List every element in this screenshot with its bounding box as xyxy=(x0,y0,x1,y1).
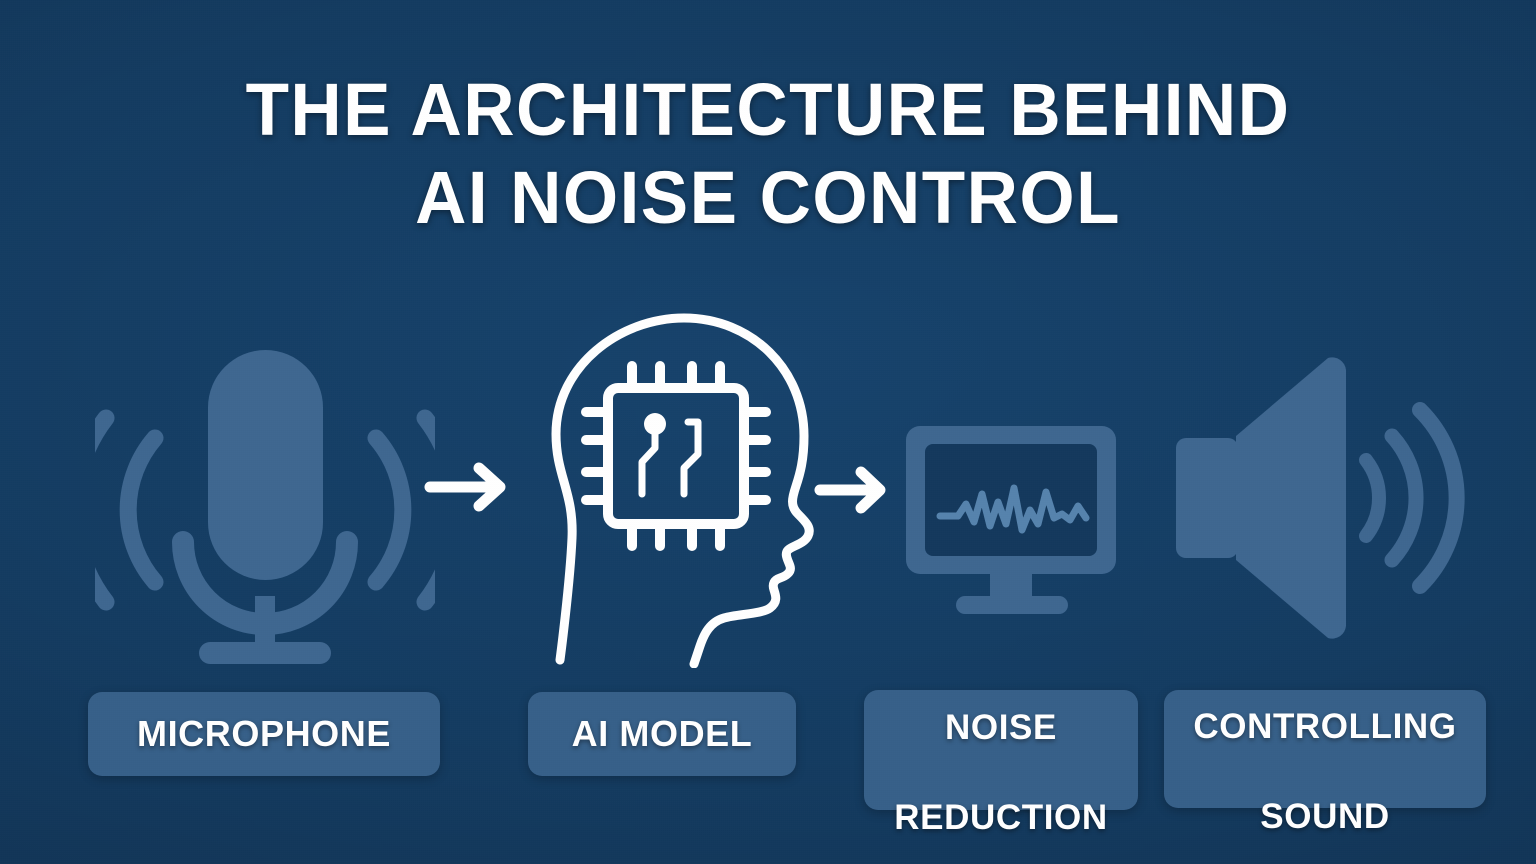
page-title: THE ARCHITECTURE BEHIND AI NOISE CONTROL xyxy=(0,66,1536,242)
cpu-chip-icon xyxy=(586,366,766,546)
step-label-line-2: REDUCTION xyxy=(894,798,1107,837)
arrow-right-icon xyxy=(424,452,516,522)
step-label-ai-model[interactable]: AI MODEL xyxy=(528,692,796,776)
step-label-noise-reduction[interactable]: NOISE REDUCTION xyxy=(864,690,1138,810)
arrow-right-icon xyxy=(814,458,896,522)
step-label-text: NOISE REDUCTION xyxy=(894,660,1107,840)
step-label-text: CONTROLLING SOUND xyxy=(1193,659,1456,839)
head-profile-with-chip-icon xyxy=(516,308,836,668)
monitor-waveform-icon xyxy=(900,420,1140,620)
microphone-icon xyxy=(95,320,435,670)
step-label-controlling-sound[interactable]: CONTROLLING SOUND xyxy=(1164,690,1486,808)
step-label-text: AI MODEL xyxy=(572,713,753,755)
speaker-icon xyxy=(1168,348,1468,648)
step-label-line-1: CONTROLLING xyxy=(1193,707,1456,746)
infographic-canvas: THE ARCHITECTURE BEHIND AI NOISE CONTROL xyxy=(0,0,1536,864)
step-label-microphone[interactable]: MICROPHONE xyxy=(88,692,440,776)
step-label-line-1: NOISE xyxy=(945,708,1057,747)
step-label-text: MICROPHONE xyxy=(137,713,391,755)
title-line-1: THE ARCHITECTURE BEHIND xyxy=(31,66,1506,154)
pipeline-icon-row xyxy=(0,300,1536,680)
step-label-line-2: SOUND xyxy=(1260,797,1389,836)
title-line-2: AI NOISE CONTROL xyxy=(31,154,1506,242)
